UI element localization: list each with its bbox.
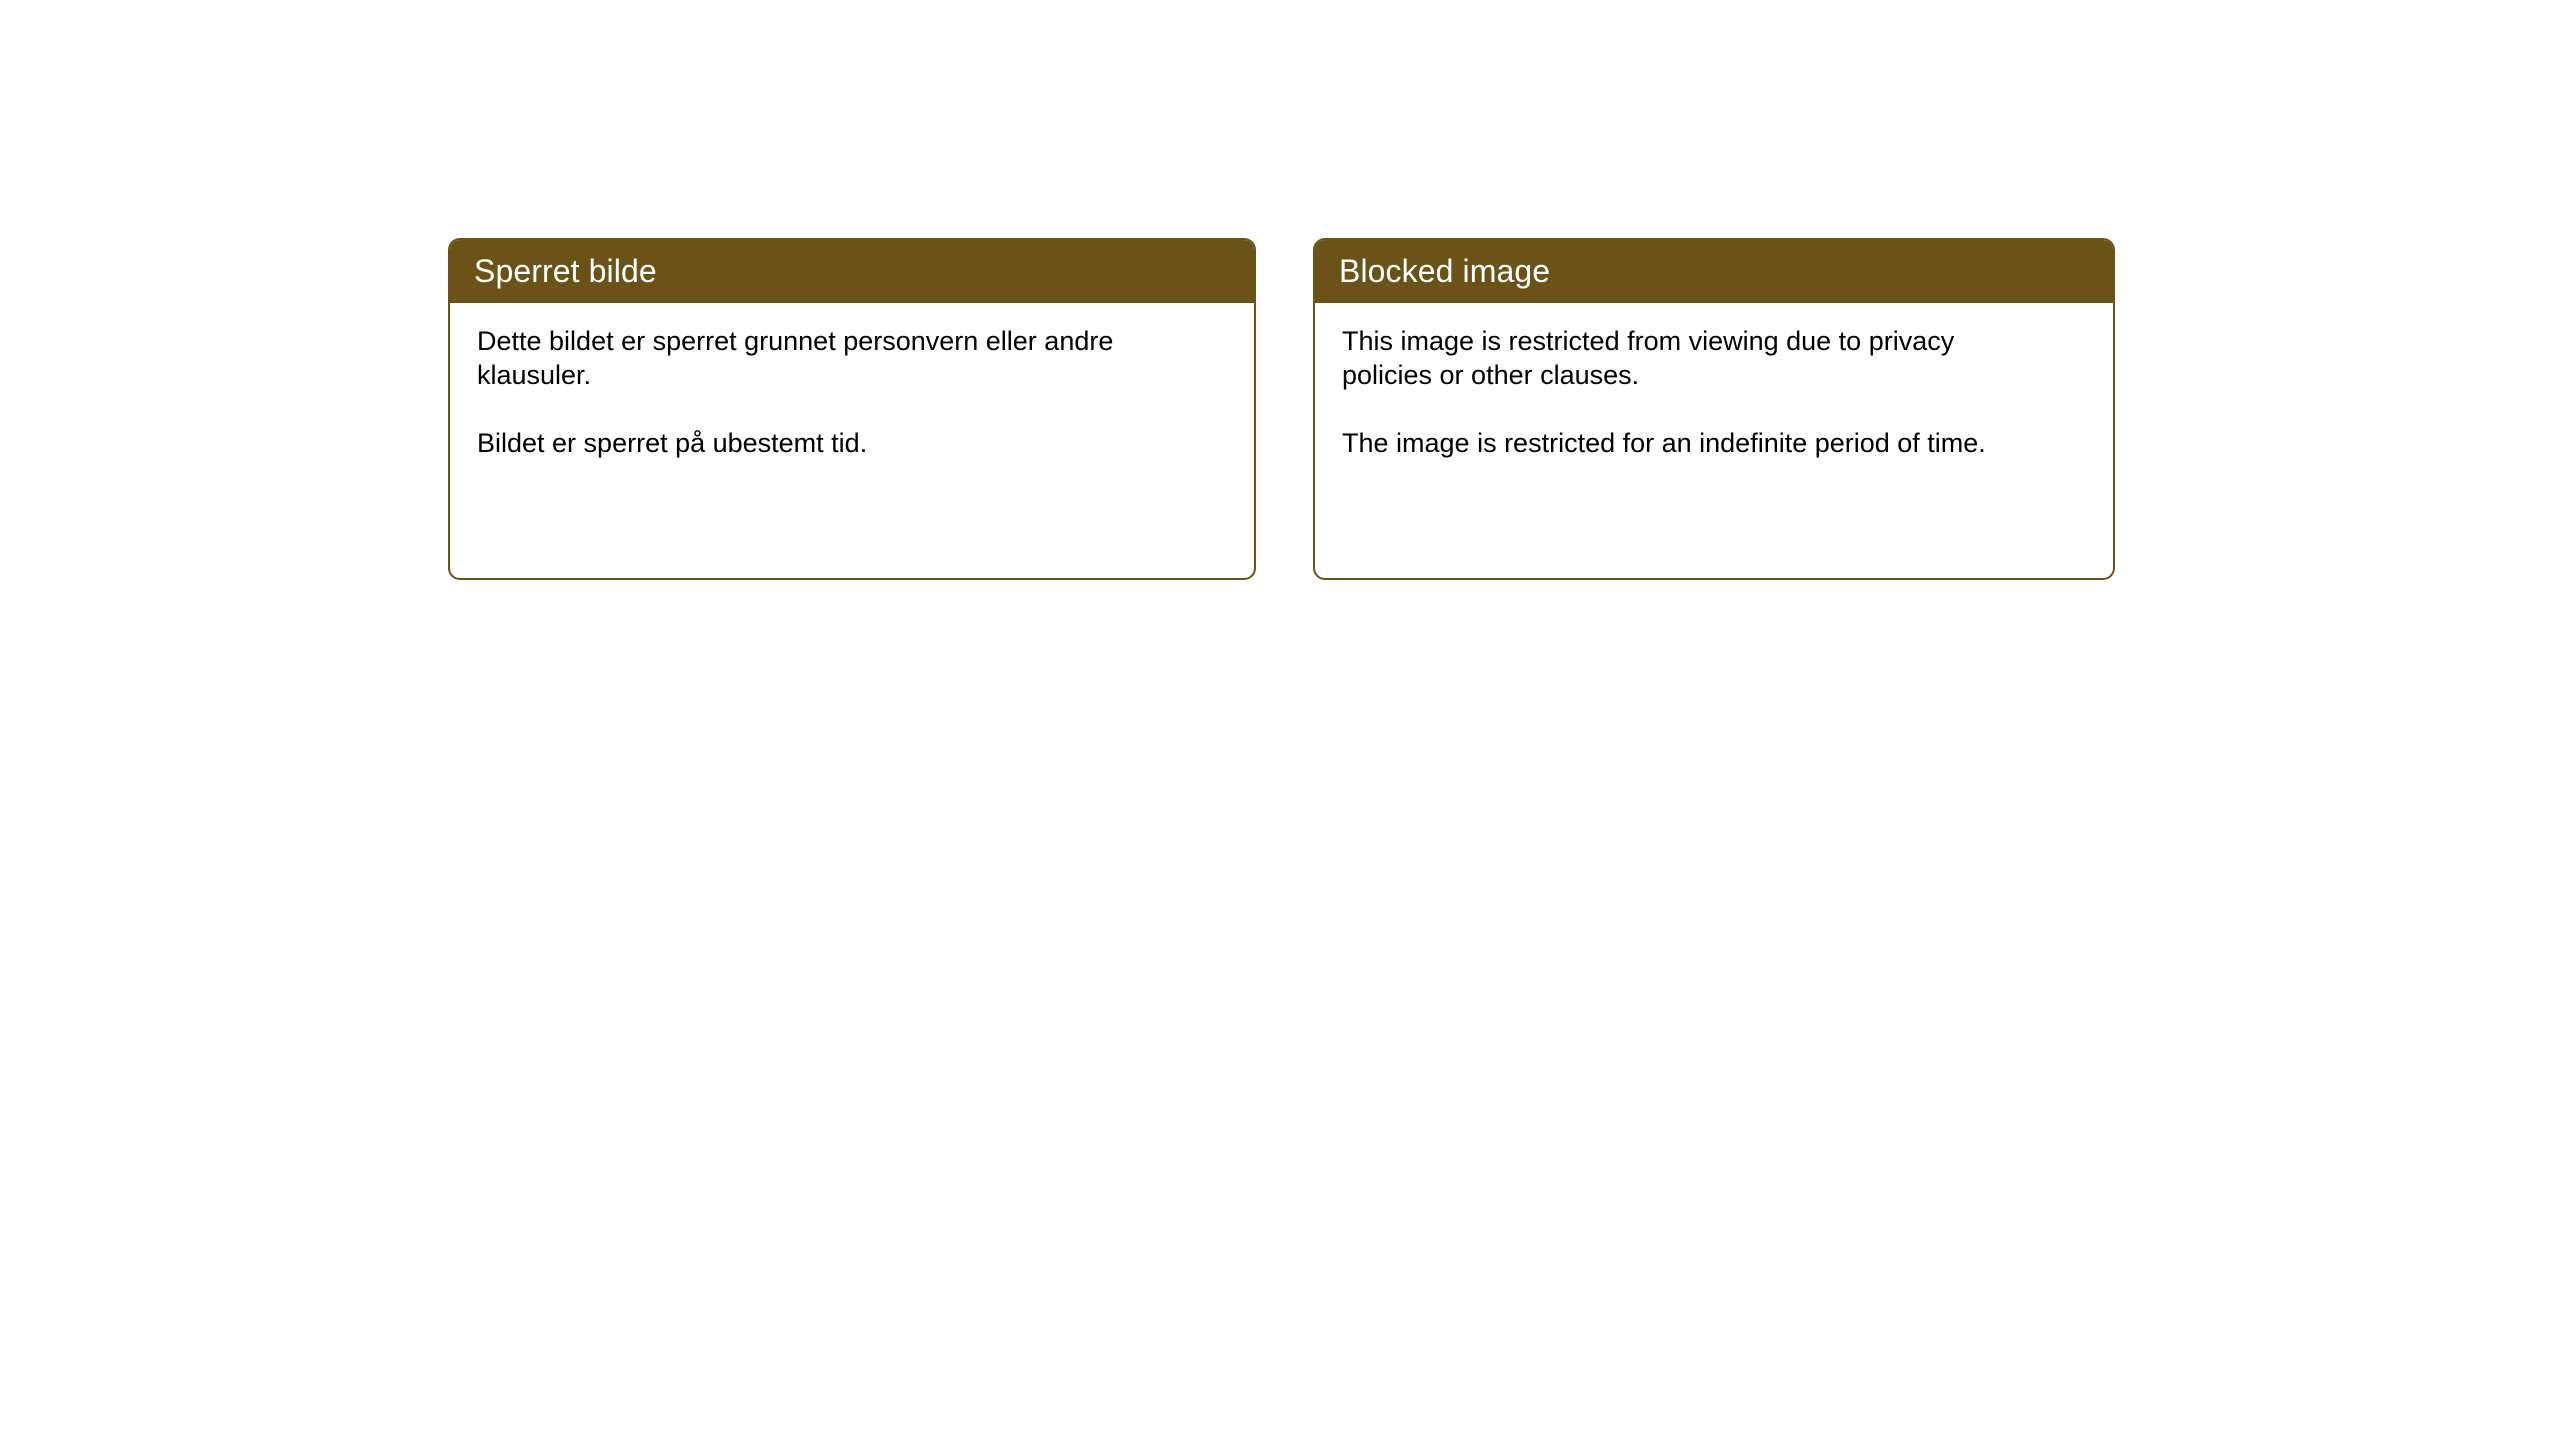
card-header-norwegian: Sperret bilde [449,239,1255,303]
card-body-norwegian: Dette bildet er sperret grunnet personve… [450,303,1254,460]
blocked-image-notices: Sperret bilde Dette bildet er sperret gr… [0,0,2560,1440]
card-paragraph-english-2: The image is restricted for an indefinit… [1342,426,2042,460]
card-paragraph-norwegian-2: Bildet er sperret på ubestemt tid. [477,426,1182,460]
blocked-image-card-norwegian: Sperret bilde Dette bildet er sperret gr… [448,238,1256,580]
card-paragraph-english-1: This image is restricted from viewing du… [1342,324,2042,392]
card-title-norwegian: Sperret bilde [474,255,657,287]
card-body-english: This image is restricted from viewing du… [1315,303,2113,460]
card-paragraph-norwegian-1: Dette bildet er sperret grunnet personve… [477,324,1182,392]
card-header-english: Blocked image [1314,239,2114,303]
blocked-image-card-english: Blocked image This image is restricted f… [1313,238,2115,580]
card-title-english: Blocked image [1339,255,1550,287]
